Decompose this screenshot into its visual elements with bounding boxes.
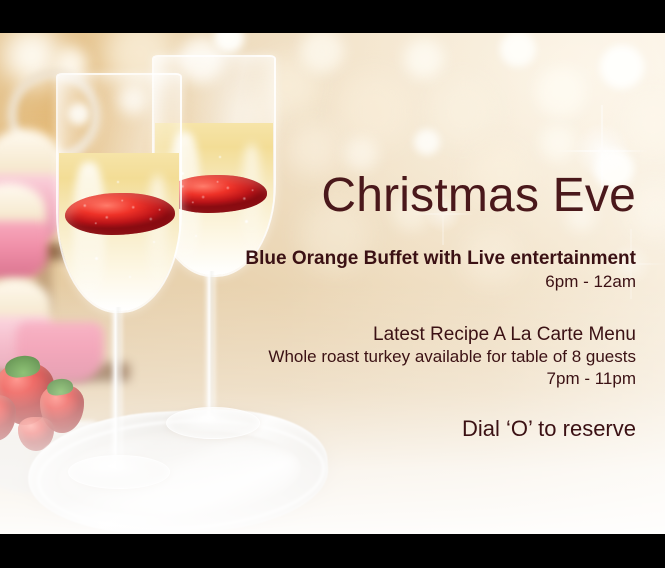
offer-heading: Blue Orange Buffet with Live entertainme…: [216, 247, 636, 271]
offer-heading: Latest Recipe A La Carte Menu: [216, 323, 636, 347]
offer-time: 6pm - 12am: [216, 271, 636, 293]
promotional-poster: Christmas Eve Blue Orange Buffet with Li…: [0, 0, 665, 568]
offer-block-buffet: Blue Orange Buffet with Live entertainme…: [216, 247, 636, 293]
letterbox-bar-bottom: [0, 534, 665, 568]
offer-time: 7pm - 11pm: [216, 368, 636, 390]
page-title: Christmas Eve: [216, 172, 636, 220]
cupcake-left: [0, 183, 48, 279]
poster-copy: Christmas Eve Blue Orange Buffet with Li…: [216, 33, 636, 442]
letterbox-bar-top: [0, 0, 665, 33]
offer-block-alacarte: Latest Recipe A La Carte Menu Whole roas…: [216, 323, 636, 391]
reservation-call-to-action: Dial ‘O’ to reserve: [216, 416, 636, 442]
offer-detail: Whole roast turkey available for table o…: [216, 346, 636, 368]
